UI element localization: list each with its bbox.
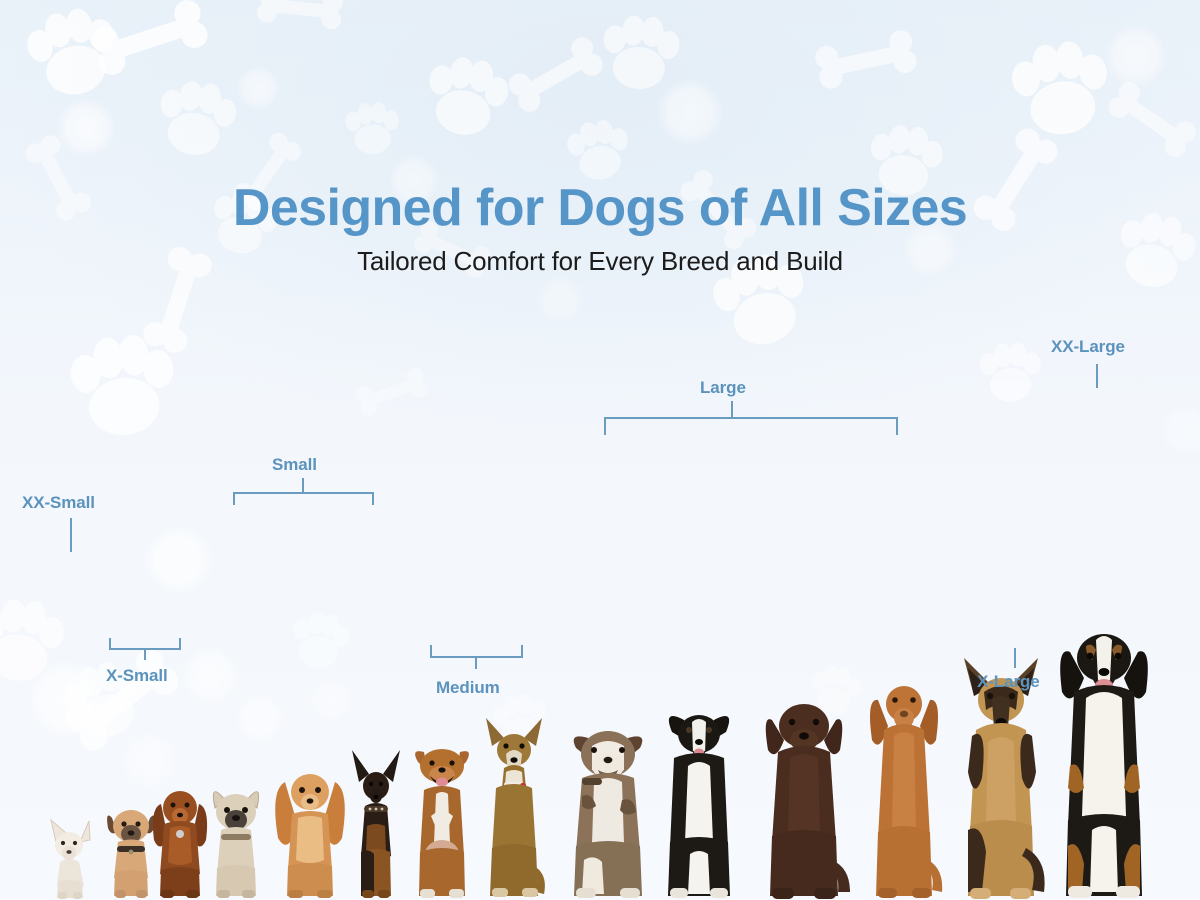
bracket-stem-small [302,478,304,493]
dog-border-collie [656,696,742,900]
bracket-arm-right-x-small [179,638,181,649]
dog-american-pit-bull-terrier [406,732,478,900]
dog-miniature-pinscher [348,748,404,900]
bracket-stem-medium [475,656,477,669]
header: Designed for Dogs of All Sizes Tailored … [0,182,1200,277]
connector-small [233,492,374,514]
bracket-arm-left-medium [430,645,432,657]
bracket-arm-left-x-small [109,638,111,649]
bracket-arm-right-small [372,492,374,505]
bracket-arm-right-medium [521,645,523,657]
bracket-arm-left-small [233,492,235,505]
dog-size-lineup [0,0,1200,900]
bracket-arm-left-large [604,417,606,435]
bracket-span-large [604,417,898,419]
dog-french-bulldog [203,774,269,900]
bracket-stem-x-small [144,648,146,660]
dog-chocolate-labrador-retriever [754,682,854,900]
dog-cavalier-king-charles-spaniel [272,760,348,900]
size-label-x-small: X-Small [106,666,168,686]
dog-chihuahua [42,812,100,900]
size-label-x-large: X-Large [977,672,1040,692]
connector-medium [430,656,523,678]
page-subtitle: Tailored Comfort for Every Breed and Bui… [0,246,1200,277]
size-label-xx-small: XX-Small [22,493,95,513]
dog-english-bulldog [562,710,654,900]
size-label-large: Large [700,378,746,398]
size-label-small: Small [272,455,317,475]
dog-bernese-mountain-dog [1048,616,1160,900]
bracket-arm-right-large [896,417,898,435]
page-title: Designed for Dogs of All Sizes [0,182,1200,234]
size-label-medium: Medium [436,678,500,698]
bracket-stem-large [731,401,733,418]
size-label-xx-large: XX-Large [1051,337,1125,357]
dog-vizsla [862,670,946,900]
dog-mixed-breed-hound [478,716,550,900]
connector-large [604,417,898,443]
